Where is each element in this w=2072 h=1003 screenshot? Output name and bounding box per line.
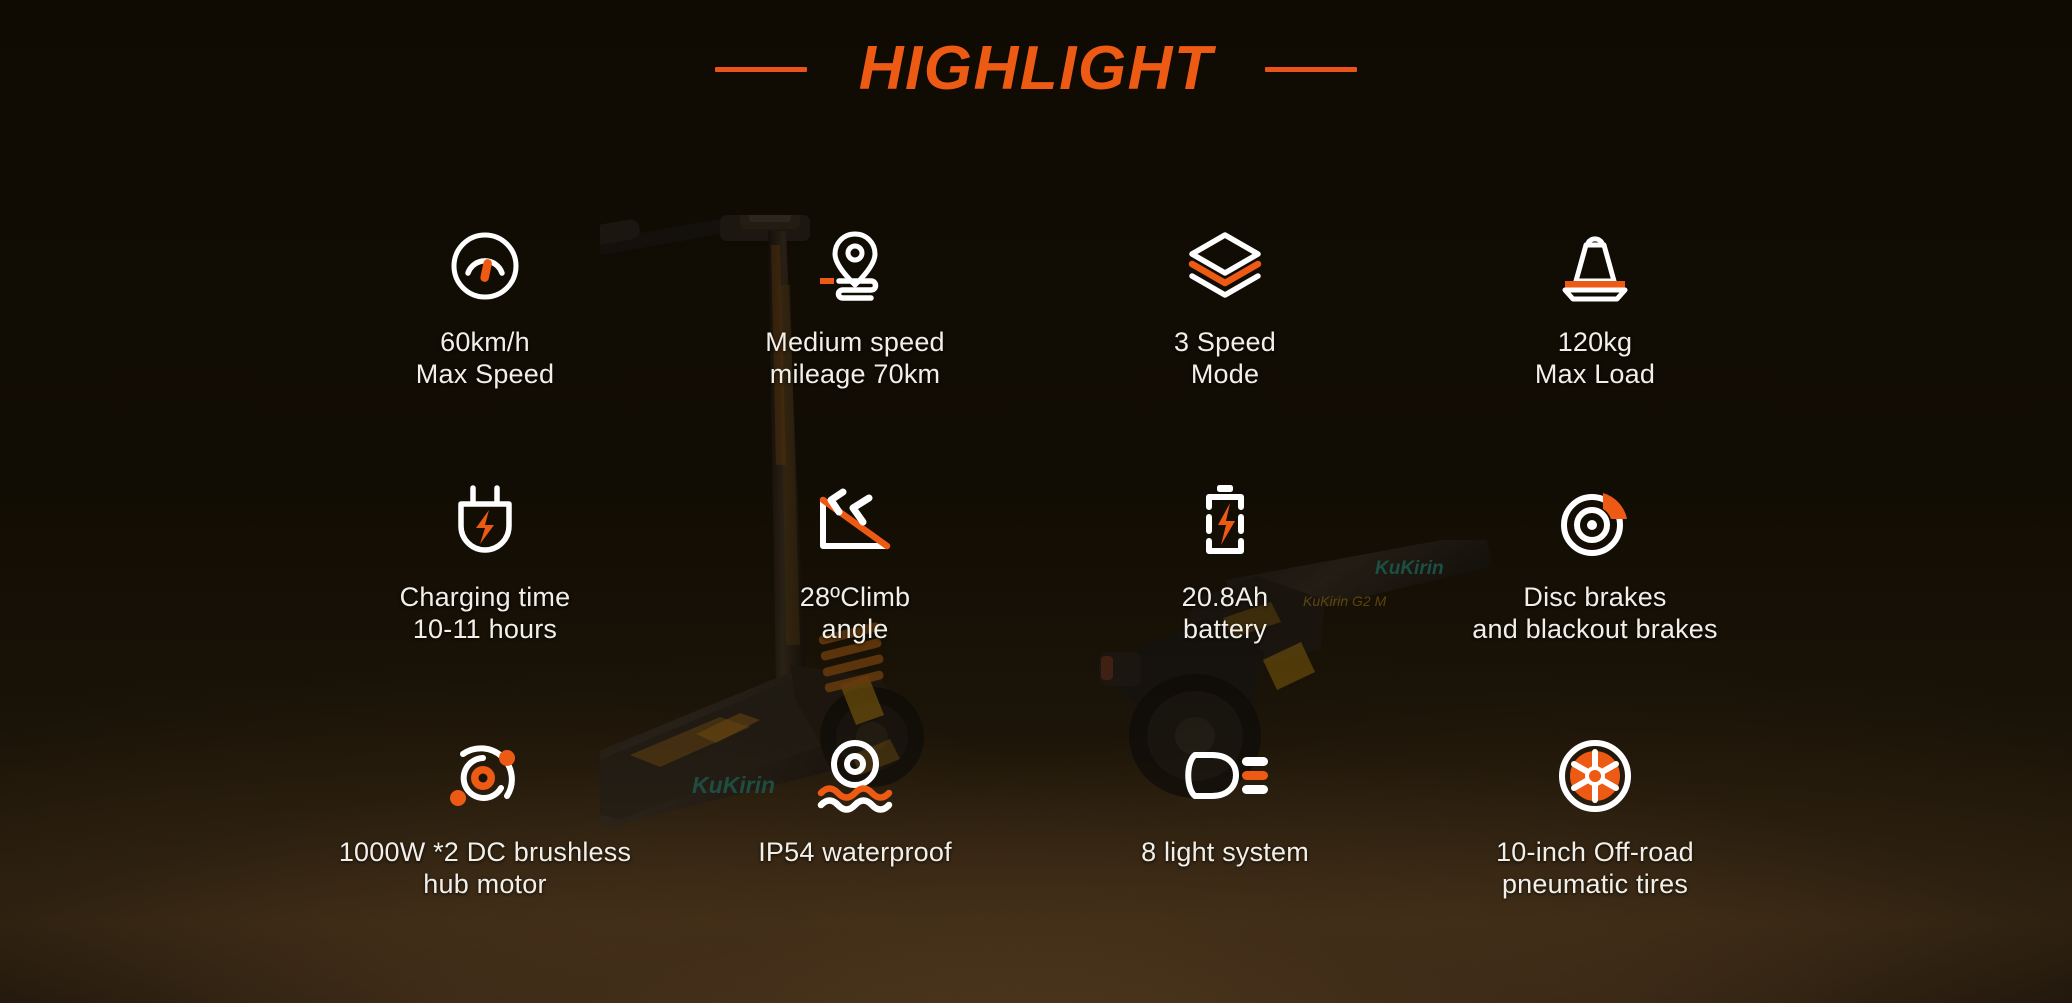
- feature-label: Charging time 10-11 hours: [400, 581, 571, 646]
- title-rule-left: [715, 67, 807, 72]
- feature-disc-brakes: Disc brakes and blackout brakes: [1410, 483, 1780, 738]
- power-plug-icon: [447, 483, 523, 559]
- feature-label: Disc brakes and blackout brakes: [1472, 581, 1717, 646]
- feature-climb-angle: 28ºClimb angle: [670, 483, 1040, 738]
- feature-label: 20.8Ah battery: [1182, 581, 1269, 646]
- disc-brake-icon: [1557, 483, 1633, 559]
- feature-charging-time: Charging time 10-11 hours: [300, 483, 670, 738]
- feature-label: 28ºClimb angle: [800, 581, 911, 646]
- title-rule-right: [1265, 67, 1357, 72]
- waterproof-icon: [817, 738, 893, 814]
- highlight-page: KuKirin Ku: [0, 0, 2072, 1003]
- climb-angle-icon: [817, 483, 893, 559]
- hub-motor-icon: [447, 738, 523, 814]
- feature-max-load: 120kg Max Load: [1410, 228, 1780, 483]
- feature-label: 10-inch Off-road pneumatic tires: [1496, 836, 1694, 901]
- headlight-icon: [1187, 738, 1263, 814]
- feature-light-system: 8 light system: [1040, 738, 1410, 993]
- feature-tires: 10-inch Off-road pneumatic tires: [1410, 738, 1780, 993]
- weight-scale-icon: [1557, 228, 1633, 304]
- speedometer-icon: [447, 228, 523, 304]
- feature-label: 1000W *2 DC brushless hub motor: [339, 836, 631, 901]
- feature-label: 3 Speed Mode: [1174, 326, 1276, 391]
- feature-battery: 20.8Ah battery: [1040, 483, 1410, 738]
- map-pin-route-icon: [817, 228, 893, 304]
- feature-waterproof: IP54 waterproof: [670, 738, 1040, 993]
- battery-bolt-icon: [1187, 483, 1263, 559]
- feature-label: 60km/h Max Speed: [416, 326, 554, 391]
- feature-mileage: Medium speed mileage 70km: [670, 228, 1040, 483]
- page-title: HIGHLIGHT: [859, 38, 1213, 100]
- feature-grid: 60km/h Max Speed Medium speed mileage 70…: [300, 228, 1780, 993]
- feature-hub-motor: 1000W *2 DC brushless hub motor: [300, 738, 670, 993]
- feature-label: 120kg Max Load: [1535, 326, 1655, 391]
- page-header: HIGHLIGHT: [0, 38, 2072, 100]
- layers-icon: [1187, 228, 1263, 304]
- feature-label: Medium speed mileage 70km: [765, 326, 945, 391]
- feature-speed-mode: 3 Speed Mode: [1040, 228, 1410, 483]
- feature-max-speed: 60km/h Max Speed: [300, 228, 670, 483]
- tire-wheel-icon: [1557, 738, 1633, 814]
- feature-label: 8 light system: [1141, 836, 1309, 868]
- feature-label: IP54 waterproof: [758, 836, 952, 868]
